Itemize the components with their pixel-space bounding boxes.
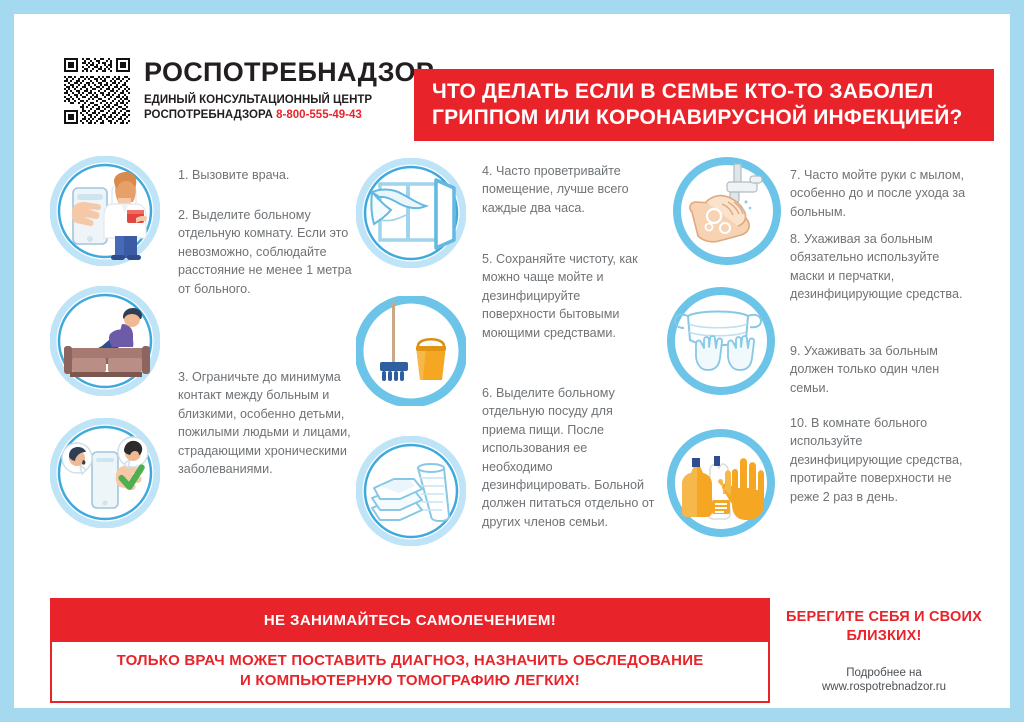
person-resting-on-sofa-icon — [50, 286, 160, 396]
disinfectant-bottles-gloves-icon — [666, 428, 776, 538]
mask-and-gloves-icon — [666, 286, 776, 396]
handwashing-tap-icon — [672, 156, 782, 266]
organization-name: РОСПОТРЕБНАДЗОР — [144, 59, 434, 86]
advice-text-2: 2. Выделите больному отдельную комнату. … — [178, 206, 354, 298]
title-banner: ЧТО ДЕЛАТЬ ЕСЛИ В СЕМЬЕ КТО-ТО ЗАБОЛЕЛ Г… — [414, 69, 994, 141]
advice-text-8: 8. Ухаживая за больным обязательно испол… — [790, 230, 970, 304]
advice-column-1: 1. Вызовите врача. 2. Выделите больному … — [50, 146, 354, 554]
advice-columns: 1. Вызовите врача. 2. Выделите больному … — [14, 146, 1010, 554]
warning-line-1: ТОЛЬКО ВРАЧ МОЖЕТ ПОСТАВИТЬ ДИАГНОЗ, НАЗ… — [60, 651, 760, 671]
advice-column-3: 7. Часто мойте руки с мылом, особенно до… — [654, 146, 974, 554]
more-info-url[interactable]: Подробнее на www.rospotrebnadzor.ru — [784, 667, 984, 695]
advice-text-3: 3. Ограничьте до минимума контакт между … — [178, 368, 354, 478]
advice-text-4: 4. Часто проветривайте помещение, лучше … — [482, 162, 654, 217]
center-line-2: РОСПОТРЕБНАДЗОРА — [144, 109, 273, 121]
advice-text-9: 9. Ухаживать за больным должен только од… — [790, 342, 970, 397]
separate-dishes-icon — [356, 436, 466, 546]
advice-text-5: 5. Сохраняйте чистоту, как можно чаще мо… — [482, 250, 654, 342]
advice-text-6: 6. Выделите больному отдельную посуду дл… — [482, 384, 658, 531]
qr-code-icon — [64, 58, 130, 124]
cta-line-1: БЕРЕГИТЕ СЕБЯ И СВОИХ — [784, 608, 984, 627]
warning-block: НЕ ЗАНИМАЙТЕСЬ САМОЛЕЧЕНИЕМ! ТОЛЬКО ВРАЧ… — [50, 598, 770, 703]
warning-detail-box: ТОЛЬКО ВРАЧ МОЖЕТ ПОСТАВИТЬ ДИАГНОЗ, НАЗ… — [50, 642, 770, 703]
advice-column-2: 4. Часто проветривайте помещение, лучше … — [354, 146, 654, 554]
center-line-1: ЕДИНЫЙ КОНСУЛЬТАЦИОННЫЙ ЦЕНТР — [144, 93, 434, 108]
mop-and-bucket-icon — [356, 296, 466, 406]
cta-line-2: БЛИЗКИХ! — [784, 627, 984, 646]
poster-header: РОСПОТРЕБНАДЗОР ЕДИНЫЙ КОНСУЛЬТАЦИОННЫЙ … — [14, 14, 1010, 132]
warning-line-2: И КОМПЬЮТЕРНУЮ ТОМОГРАФИЮ ЛЕГКИХ! — [60, 671, 760, 691]
brand-text-block: РОСПОТРЕБНАДЗОР ЕДИНЫЙ КОНСУЛЬТАЦИОННЫЙ … — [144, 58, 434, 123]
poster-canvas: РОСПОТРЕБНАДЗОР ЕДИНЫЙ КОНСУЛЬТАЦИОННЫЙ … — [14, 14, 1010, 708]
title-line-1: ЧТО ДЕЛАТЬ ЕСЛИ В СЕМЬЕ КТО-ТО ЗАБОЛЕЛ — [432, 79, 994, 105]
advice-text-10: 10. В комнате больного используйте дезин… — [790, 414, 970, 506]
poster-footer: НЕ ЗАНИМАЙТЕСЬ САМОЛЕЧЕНИЕМ! ТОЛЬКО ВРАЧ… — [14, 580, 1010, 708]
advice-text-1: 1. Вызовите врача. — [178, 166, 354, 184]
open-window-icon — [356, 158, 466, 268]
hotline-phone-number[interactable]: 8-800-555-49-43 — [276, 109, 362, 121]
title-line-2: ГРИППОМ ИЛИ КОРОНАВИРУСНОЙ ИНФЕКЦИЕЙ? — [432, 105, 994, 131]
call-to-action-block: БЕРЕГИТЕ СЕБЯ И СВОИХ БЛИЗКИХ! Подробнее… — [784, 608, 984, 694]
remote-contact-phone-icon — [50, 418, 160, 528]
consultation-center-info: ЕДИНЫЙ КОНСУЛЬТАЦИОННЫЙ ЦЕНТР РОСПОТРЕБН… — [144, 93, 434, 123]
brand-block: РОСПОТРЕБНАДЗОР ЕДИНЫЙ КОНСУЛЬТАЦИОННЫЙ … — [64, 58, 434, 124]
warning-headline-bar: НЕ ЗАНИМАЙТЕСЬ САМОЛЕЧЕНИЕМ! — [50, 598, 770, 642]
center-line-2-wrapper: РОСПОТРЕБНАДЗОРА 8-800-555-49-43 — [144, 108, 434, 123]
phone-doctor-icon — [50, 156, 160, 266]
advice-text-7: 7. Часто мойте руки с мылом, особенно до… — [790, 166, 970, 221]
warning-headline: НЕ ЗАНИМАЙТЕСЬ САМОЛЕЧЕНИЕМ! — [264, 612, 556, 629]
